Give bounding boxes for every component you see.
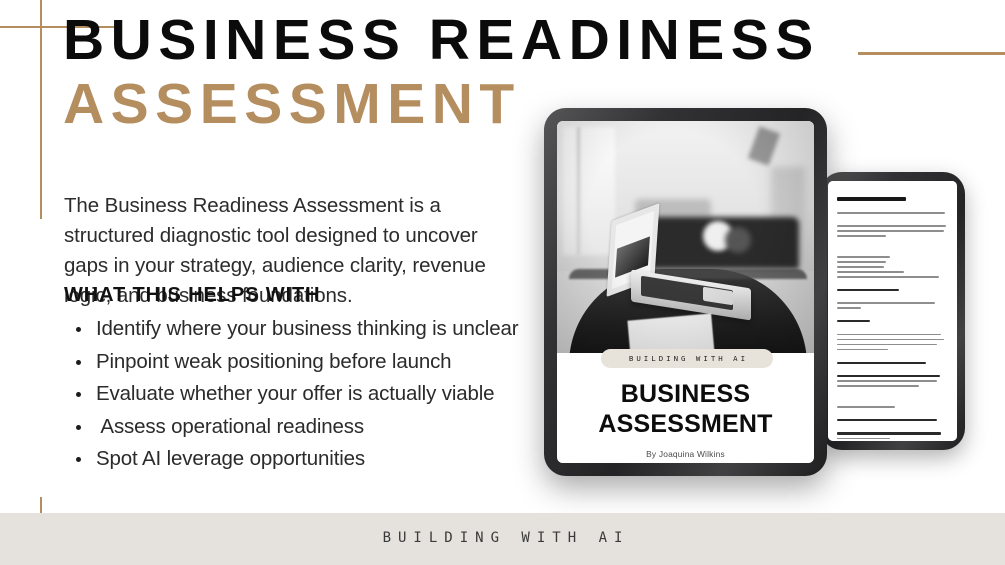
cover-title-line-2: ASSESSMENT (557, 409, 814, 439)
list-item: Pinpoint weak positioning before launch (96, 346, 566, 379)
tablet-mockup-front: BUILDING WITH AI BUSINESS ASSESSMENT By … (544, 108, 827, 476)
tablet-mockup-back (820, 172, 965, 450)
slide-canvas: BUSINESS READINESS ASSESSMENT The Busine… (0, 0, 1005, 565)
cover-photo-laptop-on-table (557, 121, 814, 353)
footer-brand-label: BUILDING WITH AI (0, 530, 1005, 546)
list-item: Assess operational readiness (96, 411, 566, 444)
tablet-back-screen (828, 181, 957, 441)
list-item: Identify where your business thinking is… (96, 313, 566, 346)
gold-rule-left-vertical (40, 0, 42, 219)
list-item: Evaluate whether your offer is actually … (96, 378, 566, 411)
page-title-line-1: BUSINESS READINESS (63, 8, 743, 72)
document-page (828, 181, 957, 441)
tablet-front-screen: BUILDING WITH AI BUSINESS ASSESSMENT By … (557, 121, 814, 463)
cover-title-line-1: BUSINESS (557, 379, 814, 409)
benefits-list: Identify where your business thinking is… (64, 313, 566, 476)
cover-badge: BUILDING WITH AI (601, 349, 773, 368)
cover-byline: By Joaquina Wilkins (557, 449, 814, 459)
cover-title: BUSINESS ASSESSMENT (557, 379, 814, 439)
subheading: WHAT THIS HELPS WITH (64, 284, 321, 307)
list-item: Spot AI leverage opportunities (96, 443, 566, 476)
cover-badge-label: BUILDING WITH AI (626, 354, 748, 363)
gold-rule-right-horizontal (858, 52, 1005, 55)
ebook-cover: BUILDING WITH AI BUSINESS ASSESSMENT By … (557, 121, 814, 463)
